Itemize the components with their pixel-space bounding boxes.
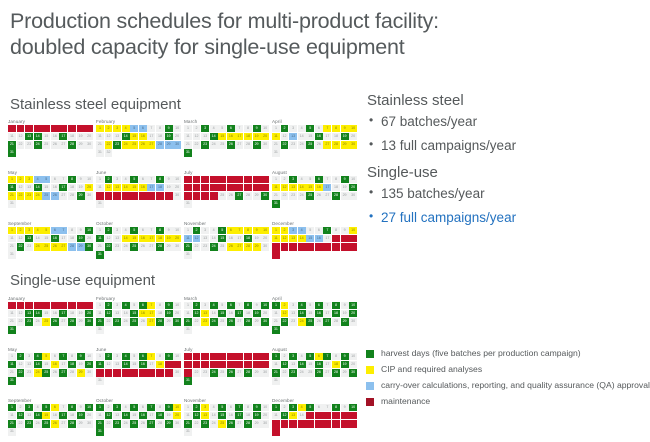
month-block-february: February12345678910111213141516171819202… — [96, 119, 178, 157]
legend-label: maintenance — [381, 396, 430, 407]
day-cell-padding — [315, 200, 323, 207]
day-cell: 10 — [261, 125, 269, 132]
day-cell: 18 — [68, 412, 76, 419]
day-cell: 6 — [139, 302, 147, 309]
day-cell: 21 — [272, 141, 280, 148]
day-cell: 10 — [261, 404, 269, 411]
day-cell-padding — [289, 251, 297, 258]
month-day-grid: 1234567891011121314151617181920212223242… — [272, 227, 354, 259]
day-cell-padding — [105, 377, 113, 384]
day-cell-padding — [147, 326, 155, 333]
day-cell-padding — [68, 326, 76, 333]
day-cell-padding — [306, 251, 314, 258]
day-cell-padding — [193, 428, 201, 435]
day-cell: 28 — [156, 141, 164, 148]
day-cell: 15 — [130, 361, 138, 368]
day-cell: 29 — [165, 369, 173, 376]
day-cell: 30 — [85, 141, 93, 148]
day-cell: 20 — [173, 184, 181, 191]
day-cell: 20 — [261, 412, 269, 419]
day-cell: 29 — [165, 420, 173, 427]
day-cell: 16 — [139, 412, 147, 419]
day-cell: 22 — [193, 141, 201, 148]
day-cell: 1 — [96, 302, 104, 309]
day-cell: 17 — [147, 235, 155, 242]
day-cell: 4 — [122, 125, 130, 132]
day-cell: 27 — [59, 192, 67, 199]
day-cell: 31 — [96, 251, 104, 258]
day-cell-padding — [122, 251, 130, 258]
month-day-grid: 1234567891011121314151617181920212223242… — [8, 227, 90, 259]
day-cell: 23 — [201, 369, 209, 376]
day-cell: 13 — [289, 184, 297, 191]
day-cell: 19 — [253, 133, 261, 140]
day-cell: 6 — [227, 353, 235, 360]
day-cell-padding — [173, 251, 181, 258]
day-cell: 27 — [323, 420, 331, 427]
day-cell: 6 — [51, 125, 59, 132]
day-cell: 23 — [113, 243, 121, 250]
day-cell: 23 — [113, 192, 121, 199]
day-cell-padding — [34, 200, 42, 207]
day-cell: 29 — [253, 369, 261, 376]
day-cell-padding — [201, 326, 209, 333]
day-cell: 29 — [165, 243, 173, 250]
day-cell: 11 — [8, 184, 16, 191]
day-cell: 18 — [68, 361, 76, 368]
day-cell-padding — [281, 428, 289, 435]
day-cell: 18 — [332, 412, 340, 419]
day-cell-padding — [59, 326, 67, 333]
day-cell: 31 — [8, 326, 16, 333]
day-cell: 8 — [156, 227, 164, 234]
day-cell-padding — [218, 200, 226, 207]
day-cell: 3 — [25, 302, 33, 309]
day-cell: 1 — [272, 302, 280, 309]
day-cell: 21 — [272, 192, 280, 199]
day-cell-padding — [139, 326, 147, 333]
day-cell: 13 — [201, 133, 209, 140]
day-cell: 16 — [51, 361, 59, 368]
day-cell-padding — [227, 251, 235, 258]
day-cell: 9 — [77, 302, 85, 309]
day-cell-padding — [42, 149, 50, 156]
day-cell: 6 — [315, 125, 323, 132]
day-cell: 9 — [253, 302, 261, 309]
day-cell-padding — [59, 377, 67, 384]
day-cell: 16 — [227, 310, 235, 317]
day-cell-padding — [113, 251, 121, 258]
day-cell-padding — [130, 377, 138, 384]
day-cell-padding — [165, 200, 173, 207]
day-cell-padding — [298, 200, 306, 207]
day-cell: 31 — [8, 149, 16, 156]
day-cell-padding — [341, 200, 349, 207]
day-cell: 1 — [96, 176, 104, 183]
day-cell: 13 — [25, 412, 33, 419]
day-cell: 14 — [298, 310, 306, 317]
day-cell: 26 — [315, 420, 323, 427]
day-cell: 12 — [105, 310, 113, 317]
day-cell: 25 — [130, 318, 138, 325]
day-cell-padding — [261, 428, 269, 435]
day-cell: 12 — [281, 184, 289, 191]
day-cell: 15 — [218, 184, 226, 191]
day-cell-padding — [306, 326, 314, 333]
day-cell: 8 — [332, 404, 340, 411]
day-cell: 27 — [235, 318, 243, 325]
day-cell: 25 — [306, 318, 314, 325]
day-cell: 23 — [289, 318, 297, 325]
day-cell: 2 — [17, 176, 25, 183]
day-cell: 26 — [139, 141, 147, 148]
page-title-line-1: Production schedules for multi-product f… — [10, 8, 638, 34]
day-cell: 14 — [298, 133, 306, 140]
day-cell: 5 — [42, 302, 50, 309]
day-cell-padding — [298, 251, 306, 258]
day-cell: 20 — [261, 235, 269, 242]
day-cell: 11 — [272, 361, 280, 368]
day-cell: 12 — [193, 412, 201, 419]
day-cell: 31 — [96, 428, 104, 435]
day-cell: 29 — [253, 318, 261, 325]
day-cell: 31 — [184, 149, 192, 156]
day-cell-padding — [156, 149, 164, 156]
day-cell-padding — [42, 200, 50, 207]
day-cell-padding — [235, 251, 243, 258]
day-cell: 29 — [77, 192, 85, 199]
day-cell-padding — [218, 251, 226, 258]
day-cell: 5 — [306, 227, 314, 234]
day-cell-padding — [59, 428, 67, 435]
day-cell-padding — [147, 149, 155, 156]
day-cell: 30 — [261, 141, 269, 148]
day-cell: 14 — [122, 412, 130, 419]
day-cell-padding — [323, 149, 331, 156]
day-cell: 9 — [165, 404, 173, 411]
day-cell: 11 — [184, 361, 192, 368]
day-cell: 24 — [122, 420, 130, 427]
day-cell: 20 — [261, 310, 269, 317]
month-day-grid: 1234567891011121314151617181920212223242… — [184, 176, 266, 208]
day-cell: 27 — [59, 141, 67, 148]
day-cell: 19 — [341, 412, 349, 419]
day-cell: 16 — [139, 310, 147, 317]
day-cell: 7 — [235, 125, 243, 132]
day-cell: 16 — [315, 310, 323, 317]
day-cell: 9 — [165, 227, 173, 234]
day-cell: 28 — [332, 243, 340, 250]
day-cell: 12 — [193, 235, 201, 242]
day-cell: 22 — [17, 192, 25, 199]
day-cell: 30 — [349, 141, 357, 148]
day-cell: 30 — [85, 192, 93, 199]
day-cell: 19 — [165, 235, 173, 242]
legend-swatch-yellow-icon — [366, 366, 374, 374]
day-cell: 11 — [184, 133, 192, 140]
day-cell: 5 — [130, 125, 138, 132]
day-cell: 4 — [34, 125, 42, 132]
day-cell: 27 — [147, 243, 155, 250]
day-cell: 15 — [218, 133, 226, 140]
summary-bullet-su-batches: 135 batches/year — [367, 186, 647, 201]
day-cell: 25 — [218, 318, 226, 325]
day-cell: 12 — [17, 133, 25, 140]
day-cell: 26 — [227, 243, 235, 250]
day-cell: 7 — [147, 404, 155, 411]
day-cell: 17 — [147, 133, 155, 140]
day-cell: 18 — [68, 184, 76, 191]
day-cell: 22 — [105, 243, 113, 250]
day-cell: 2 — [193, 353, 201, 360]
day-cell: 9 — [341, 353, 349, 360]
section-heading-single-use: Single-use equipment — [10, 272, 155, 289]
day-cell: 13 — [289, 133, 297, 140]
day-cell: 19 — [341, 184, 349, 191]
month-day-grid: 1234567891011121314151617181920212223242… — [272, 353, 354, 385]
day-cell: 12 — [105, 133, 113, 140]
legend-label: harvest days (five batches per productio… — [381, 348, 581, 359]
month-day-grid: 1234567891011121314151617181920212223242… — [272, 125, 354, 157]
day-cell: 31 — [272, 326, 280, 333]
day-cell: 3 — [201, 227, 209, 234]
day-cell: 17 — [147, 361, 155, 368]
day-cell: 13 — [201, 184, 209, 191]
day-cell: 14 — [298, 184, 306, 191]
day-cell: 13 — [289, 412, 297, 419]
day-cell: 17 — [59, 133, 67, 140]
day-cell: 10 — [85, 125, 93, 132]
day-cell: 1 — [184, 353, 192, 360]
day-cell: 4 — [34, 302, 42, 309]
day-cell: 25 — [130, 243, 138, 250]
legend-row: carry-over calculations, reporting, and … — [366, 380, 650, 391]
day-cell: 19 — [253, 184, 261, 191]
day-cell: 2 — [17, 125, 25, 132]
day-cell-padding — [122, 149, 130, 156]
day-cell-padding — [261, 377, 269, 384]
day-cell-padding — [77, 377, 85, 384]
day-cell: 3 — [25, 125, 33, 132]
day-cell-padding — [298, 377, 306, 384]
day-cell: 23 — [25, 192, 33, 199]
day-cell-padding — [298, 326, 306, 333]
day-cell-padding — [85, 149, 93, 156]
day-cell: 10 — [261, 176, 269, 183]
day-cell: 8 — [244, 353, 252, 360]
month-day-grid: 1234567891011121314151617181920212223242… — [96, 227, 178, 259]
day-cell: 17 — [235, 361, 243, 368]
day-cell: 30 — [173, 141, 181, 148]
day-cell: 9 — [77, 176, 85, 183]
day-cell: 11 — [8, 133, 16, 140]
day-cell-padding — [85, 428, 93, 435]
slide-root: Production schedules for multi-product f… — [0, 0, 650, 442]
section-heading-stainless-steel: Stainless steel equipment — [10, 96, 181, 113]
day-cell-padding — [315, 251, 323, 258]
day-cell: 13 — [25, 133, 33, 140]
day-cell: 11 — [184, 310, 192, 317]
day-cell-padding — [113, 200, 121, 207]
day-cell: 10 — [173, 176, 181, 183]
day-cell-padding — [253, 326, 261, 333]
day-cell: 24 — [210, 318, 218, 325]
day-cell: 5 — [130, 176, 138, 183]
day-cell-padding — [261, 149, 269, 156]
day-cell: 27 — [59, 369, 67, 376]
day-cell: 7 — [59, 404, 67, 411]
day-cell: 19 — [165, 310, 173, 317]
day-cell: 8 — [156, 404, 164, 411]
day-cell-padding — [25, 200, 33, 207]
day-cell: 15 — [42, 235, 50, 242]
day-cell: 2 — [193, 302, 201, 309]
day-cell: 1 — [272, 404, 280, 411]
day-cell: 12 — [281, 361, 289, 368]
day-cell: 10 — [349, 404, 357, 411]
day-cell-padding — [122, 326, 130, 333]
day-cell: 29 — [253, 420, 261, 427]
day-cell-padding — [227, 149, 235, 156]
day-cell: 31 — [272, 377, 280, 384]
day-cell: 11 — [272, 310, 280, 317]
day-cell: 21 — [8, 243, 16, 250]
day-cell-padding — [173, 200, 181, 207]
day-cell: 4 — [210, 404, 218, 411]
day-cell-padding — [210, 326, 218, 333]
day-cell: 7 — [59, 302, 67, 309]
day-cell: 20 — [85, 361, 93, 368]
day-cell: 21 — [184, 369, 192, 376]
day-cell: 29 — [165, 192, 173, 199]
day-cell-padding — [315, 149, 323, 156]
day-cell-padding — [85, 377, 93, 384]
day-cell-padding — [156, 326, 164, 333]
day-cell-padding — [156, 200, 164, 207]
day-cell: 15 — [306, 133, 314, 140]
day-cell: 15 — [42, 412, 50, 419]
day-cell: 11 — [184, 235, 192, 242]
day-cell: 24 — [210, 420, 218, 427]
day-cell: 7 — [59, 227, 67, 234]
day-cell: 20 — [349, 184, 357, 191]
day-cell: 20 — [85, 184, 93, 191]
day-cell-padding — [113, 428, 121, 435]
day-cell: 25 — [130, 369, 138, 376]
day-cell-padding — [165, 326, 173, 333]
day-cell: 6 — [315, 176, 323, 183]
day-cell: 4 — [298, 404, 306, 411]
day-cell-padding — [332, 251, 340, 258]
day-cell: 18 — [156, 361, 164, 368]
day-cell: 1 — [96, 404, 104, 411]
day-cell: 6 — [51, 404, 59, 411]
day-cell: 4 — [122, 176, 130, 183]
day-cell: 7 — [323, 404, 331, 411]
day-cell: 1 — [184, 227, 192, 234]
day-cell: 16 — [139, 235, 147, 242]
month-day-grid: 1234567891011121314151617181920212223242… — [8, 302, 90, 334]
day-cell: 6 — [51, 353, 59, 360]
day-cell-padding — [105, 200, 113, 207]
day-cell: 31 — [272, 428, 280, 435]
day-cell-padding — [244, 251, 252, 258]
day-cell: 28 — [332, 420, 340, 427]
day-cell: 5 — [218, 353, 226, 360]
day-cell: 7 — [147, 302, 155, 309]
day-cell: 4 — [298, 302, 306, 309]
day-cell: 32 — [105, 149, 113, 156]
day-cell: 15 — [130, 235, 138, 242]
day-cell: 19 — [341, 133, 349, 140]
day-cell: 7 — [323, 176, 331, 183]
day-cell: 5 — [130, 353, 138, 360]
day-cell-padding — [306, 377, 314, 384]
day-cell: 30 — [261, 369, 269, 376]
day-cell-padding — [235, 149, 243, 156]
day-cell: 3 — [25, 353, 33, 360]
day-cell: 18 — [68, 310, 76, 317]
day-cell: 23 — [201, 318, 209, 325]
day-cell: 21 — [96, 318, 104, 325]
day-cell: 19 — [165, 184, 173, 191]
day-cell: 1 — [96, 227, 104, 234]
day-cell: 14 — [122, 235, 130, 242]
day-cell: 21 — [96, 141, 104, 148]
day-cell: 16 — [315, 184, 323, 191]
day-cell: 12 — [17, 361, 25, 368]
day-cell: 8 — [68, 404, 76, 411]
day-cell: 2 — [281, 125, 289, 132]
day-cell-padding — [193, 326, 201, 333]
day-cell-padding — [281, 251, 289, 258]
day-cell: 27 — [323, 369, 331, 376]
day-cell: 27 — [235, 369, 243, 376]
day-cell: 20 — [349, 412, 357, 419]
day-cell-padding — [244, 200, 252, 207]
day-cell: 10 — [85, 353, 93, 360]
day-cell: 24 — [34, 243, 42, 250]
day-cell: 30 — [173, 369, 181, 376]
day-cell: 8 — [244, 227, 252, 234]
day-cell: 24 — [34, 192, 42, 199]
month-block-february: February12345678910111213141516171819202… — [96, 296, 178, 334]
day-cell-padding — [122, 428, 130, 435]
day-cell: 21 — [96, 369, 104, 376]
day-cell: 4 — [122, 227, 130, 234]
day-cell: 16 — [139, 184, 147, 191]
day-cell: 26 — [51, 420, 59, 427]
day-cell-padding — [51, 200, 59, 207]
day-cell: 2 — [193, 176, 201, 183]
day-cell: 9 — [165, 176, 173, 183]
day-cell: 1 — [184, 404, 192, 411]
day-cell-padding — [227, 326, 235, 333]
day-cell-padding — [77, 326, 85, 333]
day-cell: 10 — [349, 176, 357, 183]
day-cell: 24 — [122, 192, 130, 199]
day-cell: 27 — [147, 369, 155, 376]
day-cell: 3 — [289, 176, 297, 183]
day-cell: 20 — [349, 133, 357, 140]
day-cell-padding — [130, 326, 138, 333]
day-cell: 30 — [349, 243, 357, 250]
day-cell-padding — [349, 251, 357, 258]
day-cell: 28 — [332, 192, 340, 199]
day-cell: 26 — [227, 420, 235, 427]
day-cell-padding — [51, 326, 59, 333]
day-cell: 26 — [139, 318, 147, 325]
